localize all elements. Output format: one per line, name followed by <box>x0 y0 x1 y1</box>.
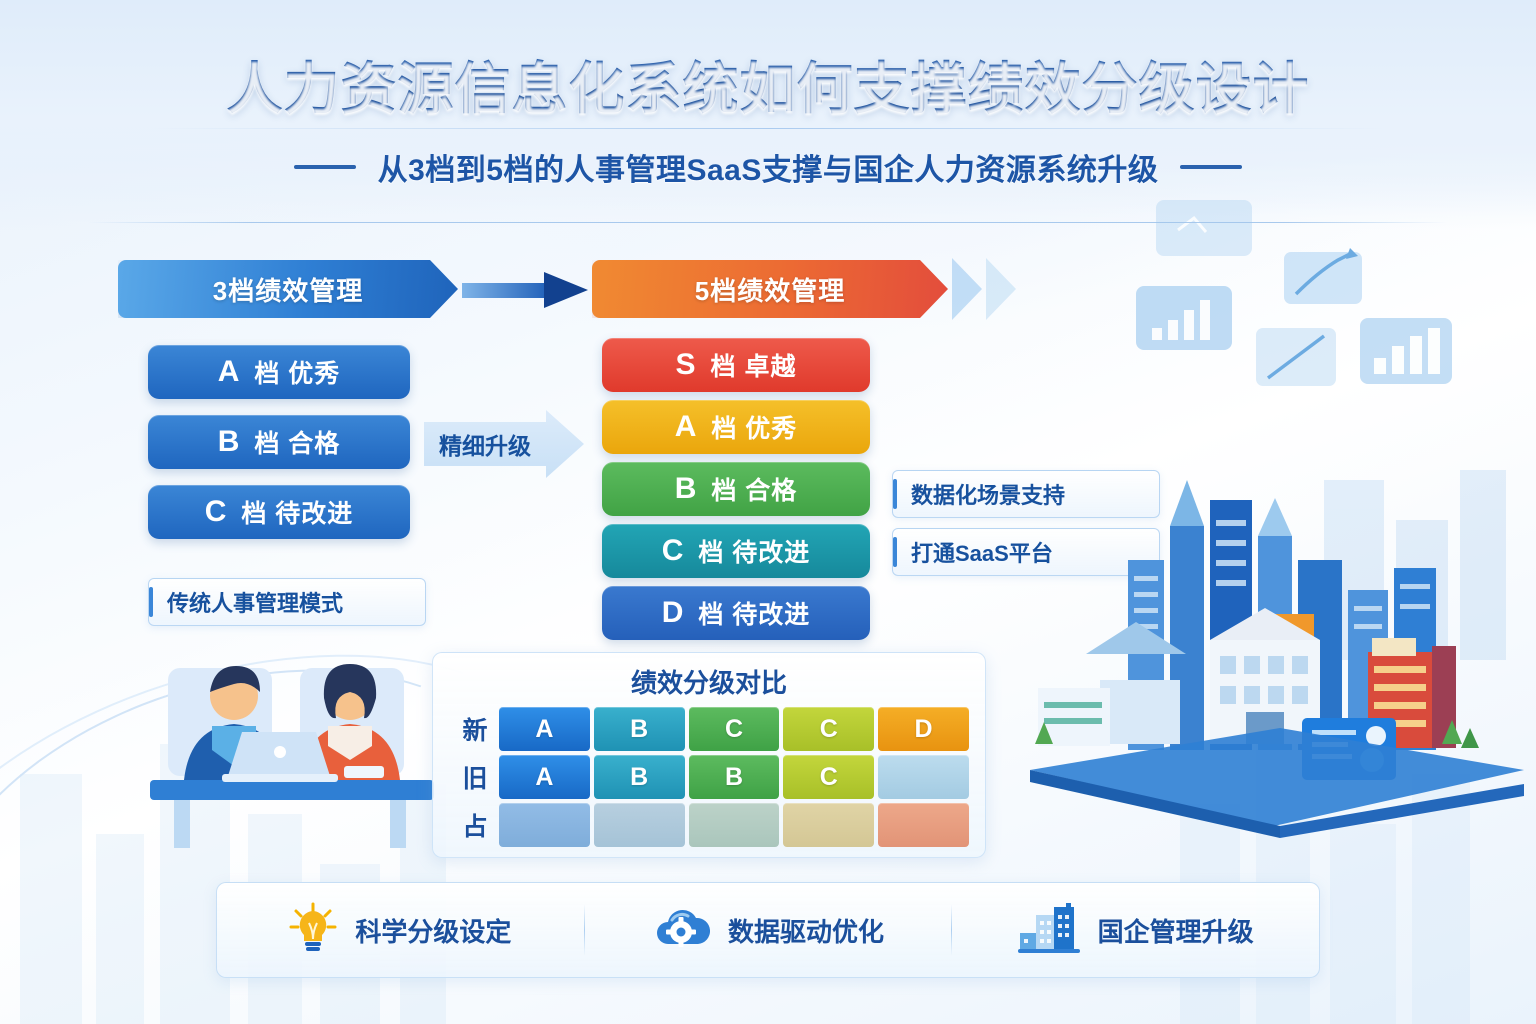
feature-item-3[interactable]: 国企管理升级 <box>952 901 1319 960</box>
grade-label: 档 优秀 <box>711 409 797 445</box>
grade-label: 档 待改进 <box>698 595 810 631</box>
old-grade-card-b[interactable]: B 档 合格 <box>148 415 410 469</box>
new-grade-card-a[interactable]: A 档 优秀 <box>602 400 870 454</box>
grade-letter: C <box>662 534 685 568</box>
table-cell: C <box>783 707 874 751</box>
new-grade-card-c[interactable]: C 档 待改进 <box>602 524 870 578</box>
grade-label: 档 待改进 <box>698 533 810 569</box>
two-office-workers-laptop-illustration <box>150 640 434 862</box>
note-accent-bar <box>149 587 153 617</box>
lightbulb-icon <box>289 901 337 960</box>
grade-letter: D <box>662 596 685 630</box>
feature-item-1[interactable]: 科学分级设定 <box>217 901 584 960</box>
infographic-canvas: 人力资源信息化系统如何支撑绩效分级设计 从3档到5档的人事管理SaaS支撑与国企… <box>0 0 1536 1024</box>
grade-letter: B <box>675 472 698 506</box>
right-arrow-icon <box>462 272 590 308</box>
page-title: 人力资源信息化系统如何支撑绩效分级设计 <box>0 44 1536 125</box>
new-model-banner: 5档绩效管理 <box>592 260 948 318</box>
table-cell <box>689 803 780 847</box>
feature-label-1: 科学分级设定 <box>355 912 511 949</box>
table-cell: A <box>499 755 590 799</box>
old-model-note: 传统人事管理模式 <box>148 578 426 626</box>
grade-letter: A <box>675 410 698 444</box>
upgrade-arrow-callout: 精细升级 <box>424 410 584 478</box>
table-row: 占 <box>451 803 969 847</box>
table-cell <box>878 755 969 799</box>
subtitle-row: 从3档到5档的人事管理SaaS支撑与国企人力资源系统升级 <box>0 145 1536 189</box>
note-accent-bar <box>893 479 897 509</box>
table-row-label: 占 <box>451 807 499 843</box>
subtitle-dash-right <box>1180 165 1242 169</box>
table-row-label: 旧 <box>451 759 499 795</box>
feature-item-2[interactable]: 数据驱动优化 <box>585 904 952 957</box>
table-cell <box>783 803 874 847</box>
header-divider <box>88 222 1448 223</box>
table-title: 绩效分级对比 <box>433 663 985 700</box>
grade-letter: B <box>218 425 241 459</box>
chevron-right-icon <box>952 258 1072 320</box>
new-grade-card-b[interactable]: B 档 合格 <box>602 462 870 516</box>
feature-bar: 科学分级设定 数据驱动优化 <box>216 882 1320 978</box>
table-cell <box>878 803 969 847</box>
title-divider <box>152 128 1384 129</box>
old-grade-card-c[interactable]: C 档 待改进 <box>148 485 410 539</box>
note-accent-bar <box>893 537 897 567</box>
table-cell: C <box>689 707 780 751</box>
table-cell: C <box>783 755 874 799</box>
table-cell: B <box>594 707 685 751</box>
upgrade-arrow-label: 精细升级 <box>424 427 546 461</box>
table-cell <box>499 803 590 847</box>
grade-label: 档 合格 <box>711 471 797 507</box>
old-grade-card-a[interactable]: A 档 优秀 <box>148 345 410 399</box>
new-grade-card-d[interactable]: D 档 待改进 <box>602 586 870 640</box>
grade-letter: C <box>205 495 228 529</box>
grade-letter: A <box>218 355 241 389</box>
grade-letter: S <box>676 348 697 382</box>
table-grid: 新 A B C C D 旧 A B B C <box>451 707 969 851</box>
old-model-banner: 3档绩效管理 <box>118 260 458 318</box>
table-row: 新 A B C C D <box>451 707 969 751</box>
grade-label: 档 合格 <box>254 424 340 460</box>
table-row: 旧 A B B C <box>451 755 969 799</box>
feature-label-2: 数据驱动优化 <box>728 912 884 949</box>
header: 人力资源信息化系统如何支撑绩效分级设计 从3档到5档的人事管理SaaS支撑与国企… <box>0 0 1536 215</box>
office-building-icon <box>1018 901 1080 960</box>
table-cell: A <box>499 707 590 751</box>
table-cell: D <box>878 707 969 751</box>
subtitle-dash-left <box>294 165 356 169</box>
grade-label: 档 优秀 <box>254 354 340 390</box>
table-cell: B <box>689 755 780 799</box>
feature-label-3: 国企管理升级 <box>1098 912 1254 949</box>
table-cell: B <box>594 755 685 799</box>
grade-label: 档 卓越 <box>711 347 797 383</box>
grade-label: 档 待改进 <box>241 494 353 530</box>
grade-comparison-table: 绩效分级对比 新 A B C C D 旧 A B B C <box>432 652 986 858</box>
isometric-city-buildings-illustration <box>1024 440 1524 840</box>
table-row-label: 新 <box>451 711 499 747</box>
new-grade-card-s[interactable]: S 档 卓越 <box>602 338 870 392</box>
table-cell <box>594 803 685 847</box>
old-model-note-label: 传统人事管理模式 <box>167 586 343 618</box>
cloud-gear-icon <box>652 904 710 957</box>
page-subtitle: 从3档到5档的人事管理SaaS支撑与国企人力资源系统升级 <box>378 145 1159 189</box>
